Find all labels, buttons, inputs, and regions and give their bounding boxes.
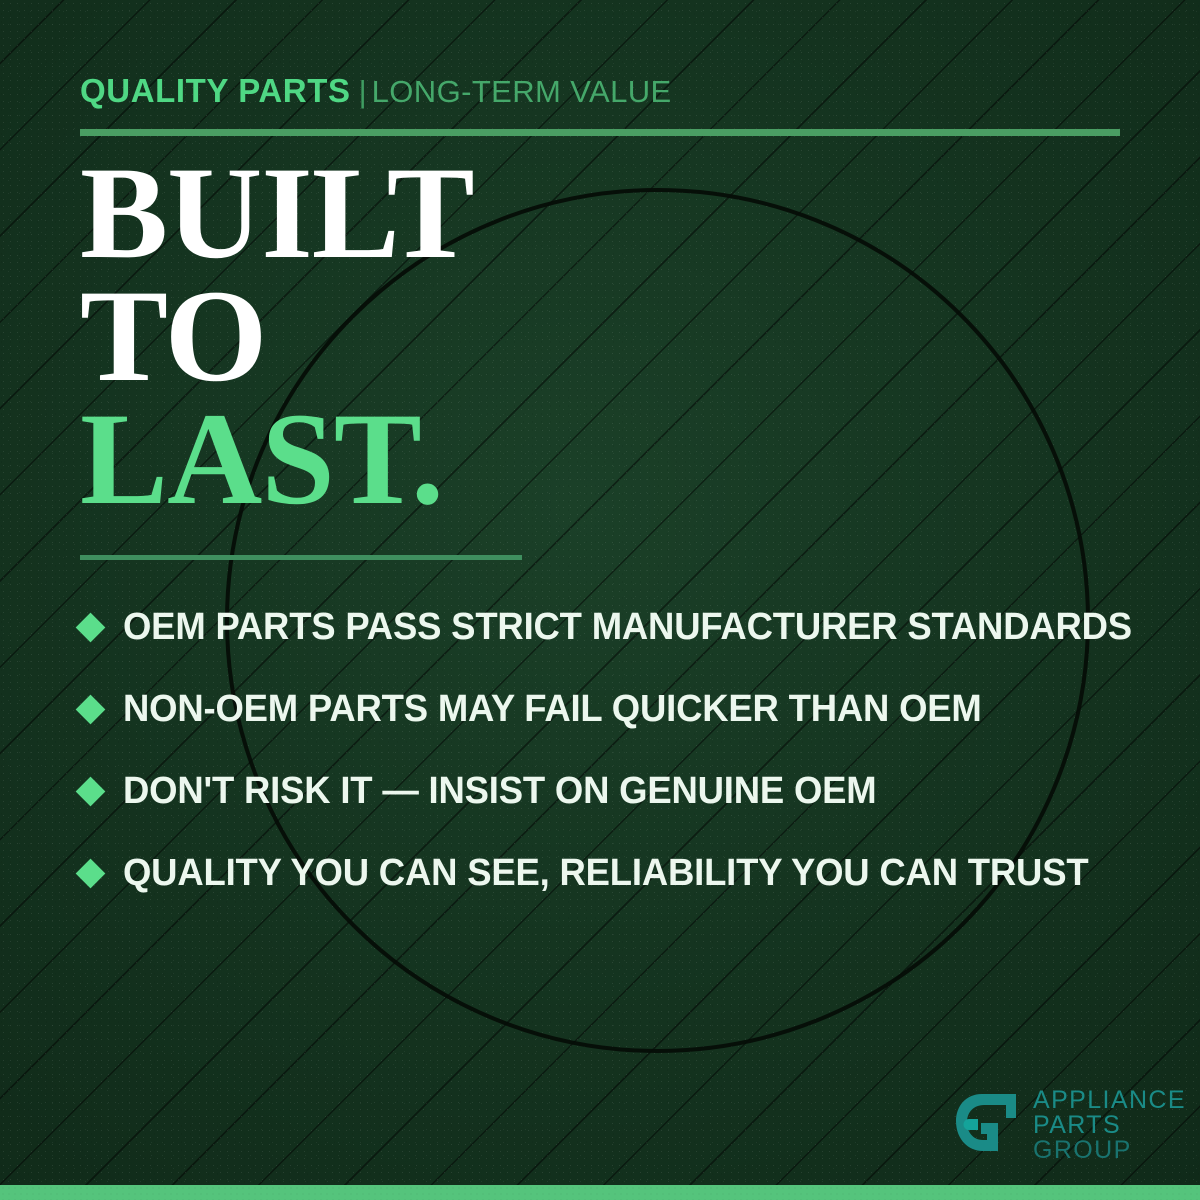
headline-line-3: LAST.	[80, 398, 474, 521]
diamond-bullet-icon	[76, 858, 106, 888]
eyebrow: QUALITY PARTS|LONG-TERM VALUE	[80, 74, 672, 107]
headline-line-1: BUILT	[80, 152, 474, 275]
eyebrow-strong-label: QUALITY PARTS	[80, 72, 351, 109]
poster-canvas: QUALITY PARTS|LONG-TERM VALUE BUILT TO L…	[0, 0, 1200, 1200]
footer-bar-texture	[0, 1185, 1200, 1200]
list-item-label: NON-OEM PARTS MAY FAIL QUICKER THAN OEM	[123, 688, 982, 731]
list-item: OEM PARTS PASS STRICT MANUFACTURER STAND…	[80, 586, 1140, 668]
brand-word-group: GROUP	[1033, 1138, 1186, 1163]
diamond-bullet-icon	[76, 694, 106, 724]
benefits-list: OEM PARTS PASS STRICT MANUFACTURER STAND…	[80, 586, 1140, 914]
footer-accent-bar	[0, 1185, 1200, 1200]
poster-content: QUALITY PARTS|LONG-TERM VALUE BUILT TO L…	[0, 0, 1200, 1200]
brand-logo: APPLIANCE PARTS GROUP	[948, 1088, 1186, 1162]
eyebrow-separator: |	[359, 74, 367, 109]
header-divider-rule	[80, 129, 1120, 136]
list-item: DON'T RISK IT — INSIST ON GENUINE OEM	[80, 750, 1140, 832]
list-item-label: DON'T RISK IT — INSIST ON GENUINE OEM	[123, 770, 877, 813]
brand-word-parts: PARTS	[1033, 1113, 1186, 1138]
eyebrow-light-label: LONG-TERM VALUE	[372, 74, 672, 109]
list-item-label: OEM PARTS PASS STRICT MANUFACTURER STAND…	[123, 606, 1132, 649]
page-title: BUILT TO LAST.	[80, 152, 474, 520]
diamond-bullet-icon	[76, 776, 106, 806]
headline-line-2: TO	[80, 275, 474, 398]
g-monogram-icon	[948, 1088, 1022, 1162]
list-item-label: QUALITY YOU CAN SEE, RELIABILITY YOU CAN…	[123, 852, 1088, 895]
diamond-bullet-icon	[76, 612, 106, 642]
list-item: NON-OEM PARTS MAY FAIL QUICKER THAN OEM	[80, 668, 1140, 750]
list-item: QUALITY YOU CAN SEE, RELIABILITY YOU CAN…	[80, 832, 1140, 914]
brand-word-appliance: APPLIANCE	[1033, 1088, 1186, 1113]
headline-divider-rule	[80, 555, 522, 560]
brand-logo-wordmark: APPLIANCE PARTS GROUP	[1033, 1088, 1186, 1162]
